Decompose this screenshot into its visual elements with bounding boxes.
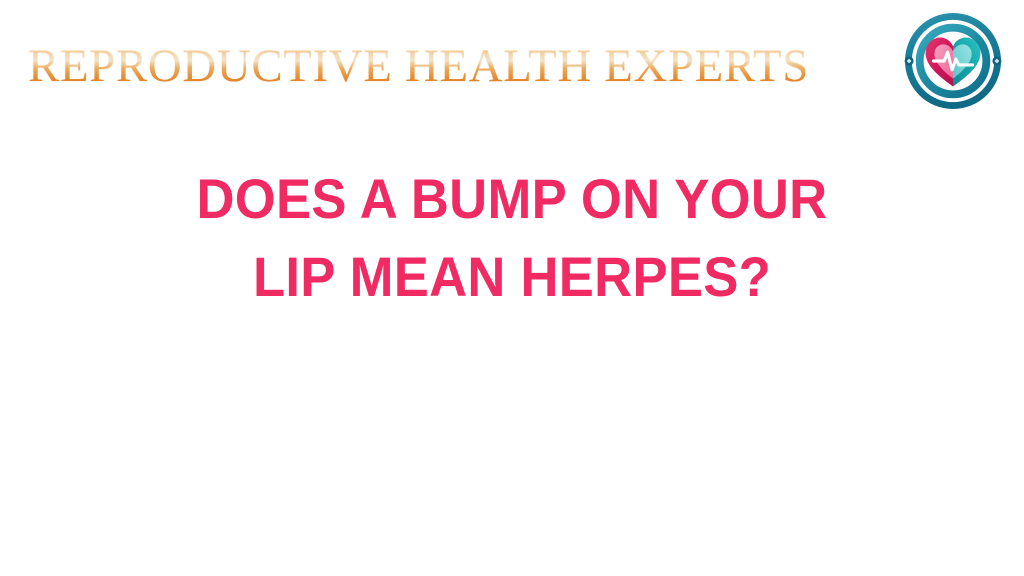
heart-pulse-badge-logo-icon: [904, 12, 1002, 110]
page-title-line-1: DOES A BUMP ON YOUR: [31, 160, 994, 238]
page-title-line-2: LIP MEAN HERPES?: [31, 238, 994, 316]
brand-logo[interactable]: [904, 12, 1010, 110]
site-header: REPRODUCTIVE HEALTH EXPERTS: [0, 0, 1024, 122]
headline-block: DOES A BUMP ON YOUR LIP MEAN HERPES?: [0, 160, 1024, 316]
page-root: REPRODUCTIVE HEALTH EXPERTS: [0, 0, 1024, 576]
page-title: DOES A BUMP ON YOUR LIP MEAN HERPES?: [31, 160, 994, 316]
brand-wordmark: REPRODUCTIVE HEALTH EXPERTS: [28, 33, 809, 90]
